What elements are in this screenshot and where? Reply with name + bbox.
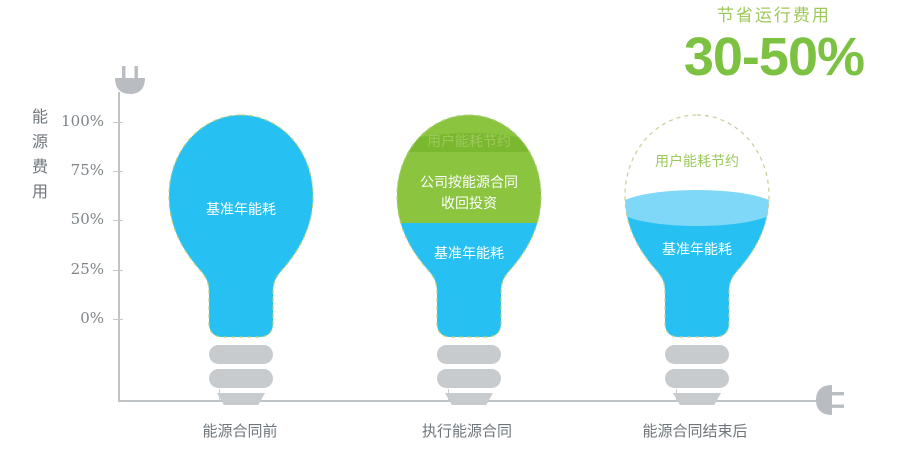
bulb-base-cap <box>673 393 721 405</box>
bulb-base-ring <box>437 369 501 388</box>
y-axis-title: 能 源 费 用 <box>28 104 52 204</box>
y-tick-label: 0% <box>80 309 104 327</box>
bulb-graphic <box>611 105 783 405</box>
y-tick-label: 100% <box>61 112 104 130</box>
y-axis-title-char: 用 <box>28 179 52 204</box>
y-tick-label: 50% <box>71 210 104 228</box>
x-label-during-contract: 执行能源合同 <box>377 420 557 441</box>
header-headline: 30-50% <box>684 28 864 86</box>
y-tick-mark <box>113 171 123 172</box>
bulb-base-cap <box>217 393 265 405</box>
plug-icon <box>112 66 148 101</box>
bulb-base-cap <box>445 393 493 405</box>
y-tick-label: 25% <box>71 260 104 278</box>
plug-icon <box>810 383 844 424</box>
bulb-base-ring <box>665 369 729 388</box>
y-axis-title-char: 费 <box>28 154 52 179</box>
bulb-fill-blue <box>169 115 313 337</box>
bulb-during-contract[interactable]: 用户能耗节约 公司按能源合同 收回投资 基准年能耗 <box>383 105 555 405</box>
y-tick-mark <box>113 319 123 320</box>
y-tick-mark <box>113 122 123 123</box>
y-tick-75: 75% <box>0 171 118 172</box>
bulb-graphic <box>383 105 555 405</box>
bulb-base-ring <box>209 369 273 388</box>
x-label-before-contract: 能源合同前 <box>150 420 330 441</box>
bulb-graphic <box>155 105 327 405</box>
y-axis-title-char: 源 <box>28 129 52 154</box>
bulb-base-ring <box>665 345 729 364</box>
bulb-after-contract[interactable]: 用户能耗节约 基准年能耗 <box>611 105 783 405</box>
y-tick-50: 50% <box>0 220 118 221</box>
x-label-after-contract: 能源合同结束后 <box>605 420 785 441</box>
y-tick-0: 0% <box>0 319 118 320</box>
y-tick-label: 75% <box>71 161 104 179</box>
bulb-base-ring <box>209 345 273 364</box>
liquid-surface-ellipse <box>617 190 777 226</box>
bulb-base-ring <box>437 345 501 364</box>
bulb-fill-green <box>383 152 555 223</box>
header-block: 节省运行费用 30-50% <box>684 4 864 86</box>
y-tick-mark <box>113 220 123 221</box>
y-tick-mark <box>113 270 123 271</box>
infographic-canvas: 节省运行费用 30-50% 能 源 费 用 100% 75% 50% 25% 0… <box>0 0 900 473</box>
y-axis-title-char: 能 <box>28 104 52 129</box>
bulb-before-contract[interactable]: 基准年能耗 <box>155 105 327 405</box>
header-subtitle: 节省运行费用 <box>684 4 864 28</box>
y-axis-line <box>118 92 120 402</box>
y-tick-25: 25% <box>0 270 118 271</box>
y-tick-100: 100% <box>0 122 118 123</box>
